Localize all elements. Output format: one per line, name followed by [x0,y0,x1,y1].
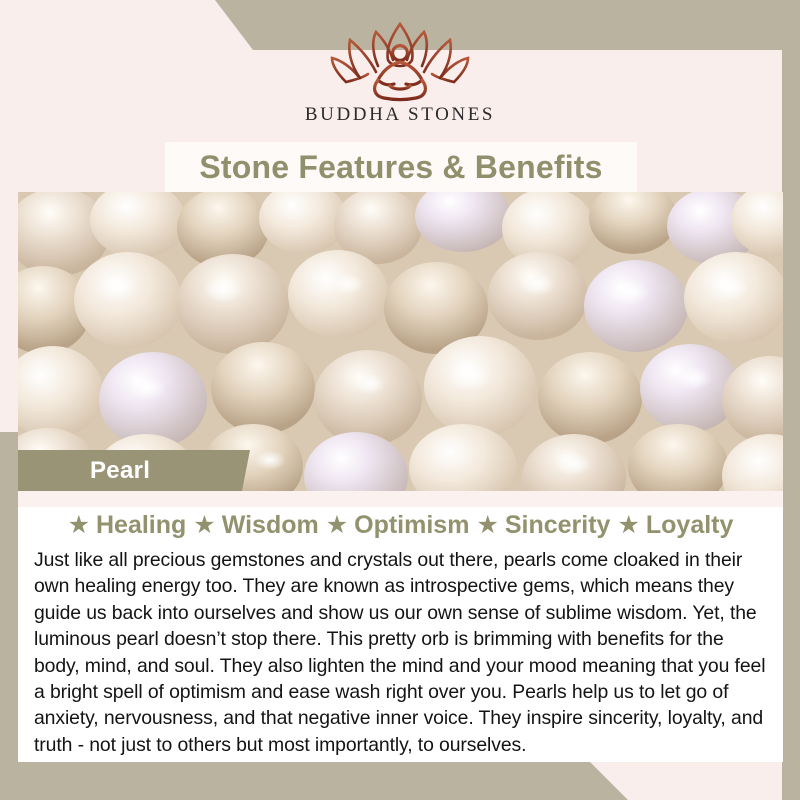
frame-left-decoration [0,432,18,762]
pearl-gemstones-photo [18,192,783,491]
benefit-label: Wisdom [222,511,319,540]
benefit-label: Sincerity [505,511,611,540]
benefit-item-optimism: ★ Optimism [326,511,470,540]
star-icon: ★ [193,513,215,538]
brand-logo: BUDDHA STONES [0,16,800,140]
frame-bottom-decoration [0,762,800,800]
infographic-page: BUDDHA STONES Stone Features & Benefits [0,0,800,800]
page-title: Stone Features & Benefits [199,149,602,186]
panel-top-tint [18,491,783,507]
star-icon: ★ [326,513,348,538]
benefit-label: Healing [96,511,186,540]
title-banner: Stone Features & Benefits [165,142,637,192]
benefit-label: Loyalty [646,511,734,540]
brand-name: BUDDHA STONES [305,104,495,126]
star-icon: ★ [68,513,90,538]
benefit-item-sincerity: ★ Sincerity [476,511,610,540]
benefit-item-wisdom: ★ Wisdom [193,511,318,540]
benefit-item-loyalty: ★ Loyalty [617,511,733,540]
benefits-list: ★ Healing ★ Wisdom ★ Optimism ★ Sincerit… [18,511,783,540]
star-icon: ★ [617,513,639,538]
lotus-meditation-icon [310,16,490,102]
description-text: Just like all precious gemstones and cry… [34,547,769,758]
content-panel: ★ Healing ★ Wisdom ★ Optimism ★ Sincerit… [18,491,783,762]
benefit-label: Optimism [354,511,469,540]
benefit-item-healing: ★ Healing [68,511,187,540]
stone-name-text: Pearl [90,457,150,485]
star-icon: ★ [476,513,498,538]
stone-name-label: Pearl [18,450,250,491]
